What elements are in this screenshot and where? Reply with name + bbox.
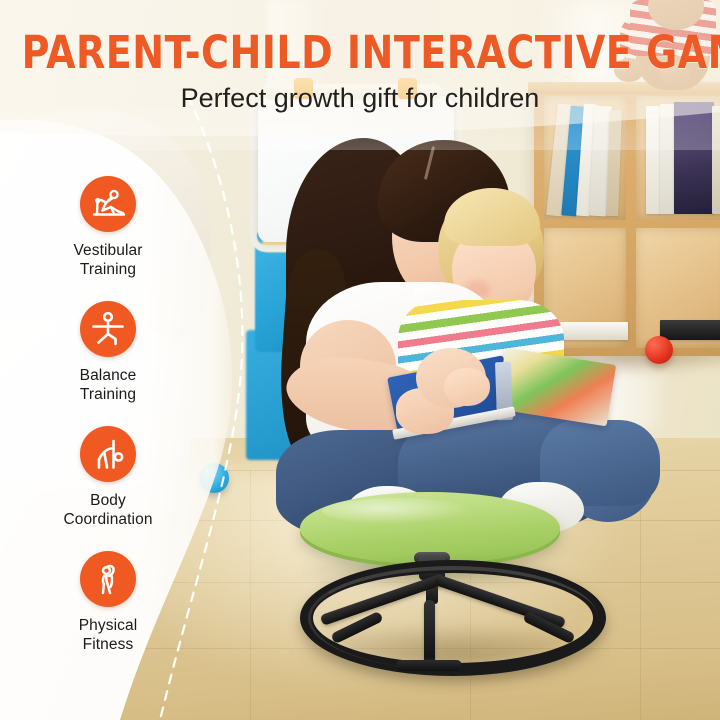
page-title: PARENT-CHILD INTERACTIVE GAMES bbox=[22, 26, 699, 79]
feature-item-physical-fitness: Physical Fitness bbox=[42, 551, 174, 676]
feature-icon-badge bbox=[80, 301, 136, 357]
product-marketing-poster: PARENT-CHILD INTERACTIVE GAMES Perfect g… bbox=[0, 0, 720, 720]
page-subtitle: Perfect growth gift for children bbox=[0, 83, 720, 114]
feature-item-vestibular-training: Vestibular Training bbox=[42, 176, 174, 301]
feature-label: Physical Fitness bbox=[42, 616, 174, 654]
feature-list: Vestibular Training bbox=[42, 176, 174, 676]
feature-icon-badge bbox=[80, 551, 136, 607]
red-ball bbox=[645, 336, 673, 364]
child-hand bbox=[444, 368, 490, 406]
feature-label: Body Coordination bbox=[42, 491, 174, 529]
balance-pose-icon bbox=[80, 301, 136, 357]
body-coordination-icon bbox=[80, 426, 136, 482]
blue-ball bbox=[199, 463, 229, 493]
feature-icon-badge bbox=[80, 426, 136, 482]
feature-label: Balance Training bbox=[42, 366, 174, 404]
feature-label: Vestibular Training bbox=[42, 241, 174, 279]
feature-icon-badge bbox=[80, 176, 136, 232]
feature-item-balance-training: Balance Training bbox=[42, 301, 174, 426]
feature-item-body-coordination: Body Coordination bbox=[42, 426, 174, 551]
stretching-fitness-icon bbox=[80, 551, 136, 607]
sit-up-exercise-icon bbox=[80, 176, 136, 232]
